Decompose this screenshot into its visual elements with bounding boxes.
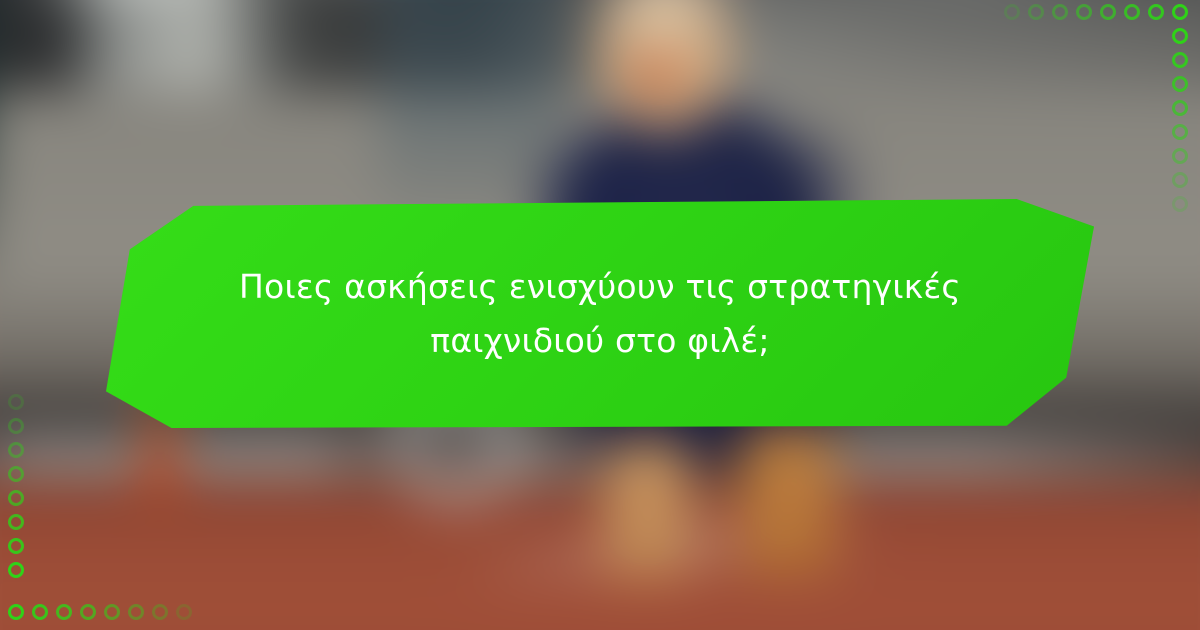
player-leg-left [604,440,690,580]
decor-dot [1172,28,1188,44]
decor-dot [1052,4,1068,20]
decor-dot [8,514,24,530]
decor-dot [1076,4,1092,20]
background-window-left [0,0,260,4]
player-face-shadow [628,48,684,98]
decor-dot [152,604,168,620]
decor-dot [1124,4,1140,20]
question-line-1: Ποιες ασκήσεις ενισχύουν τις στρατηγικές [220,260,980,313]
decor-dot [1100,4,1116,20]
decor-dots-top-right-row [1004,4,1188,20]
decor-dot [1148,4,1164,20]
decor-dot [1028,4,1044,20]
decor-dot [8,490,24,506]
decor-dot [1172,172,1188,188]
decor-dot [1172,124,1188,140]
decor-dot [1172,4,1188,20]
player-leg-right [740,426,836,576]
social-card: Ποιες ασκήσεις ενισχύουν τις στρατηγικές… [0,0,1200,630]
decor-dot [1004,4,1020,20]
decor-dot [8,466,24,482]
question-banner-inner: Ποιες ασκήσεις ενισχύουν τις στρατηγικές… [220,260,980,367]
question-banner: Ποιες ασκήσεις ενισχύουν τις στρατηγικές… [104,199,1096,428]
decor-dot [8,562,24,578]
decor-dot [1172,52,1188,68]
decor-dot [1172,100,1188,116]
decor-dot [56,604,72,620]
decor-dot [1172,148,1188,164]
decor-dot [8,538,24,554]
decor-dot [8,442,24,458]
question-line-2: παιχνιδιού στο φιλέ; [220,314,980,367]
decor-dot [8,394,24,410]
decor-dot [32,604,48,620]
decor-dots-bottom-left-column [8,394,24,578]
decor-dot [104,604,120,620]
decor-dot [80,604,96,620]
decor-dots-bottom-left-row [8,604,192,620]
decor-dot [8,418,24,434]
decor-dots-top-right-column [1172,28,1188,212]
decor-dot [1172,196,1188,212]
decor-dot [176,604,192,620]
decor-dot [128,604,144,620]
decor-dot [1172,76,1188,92]
decor-dot [8,604,24,620]
